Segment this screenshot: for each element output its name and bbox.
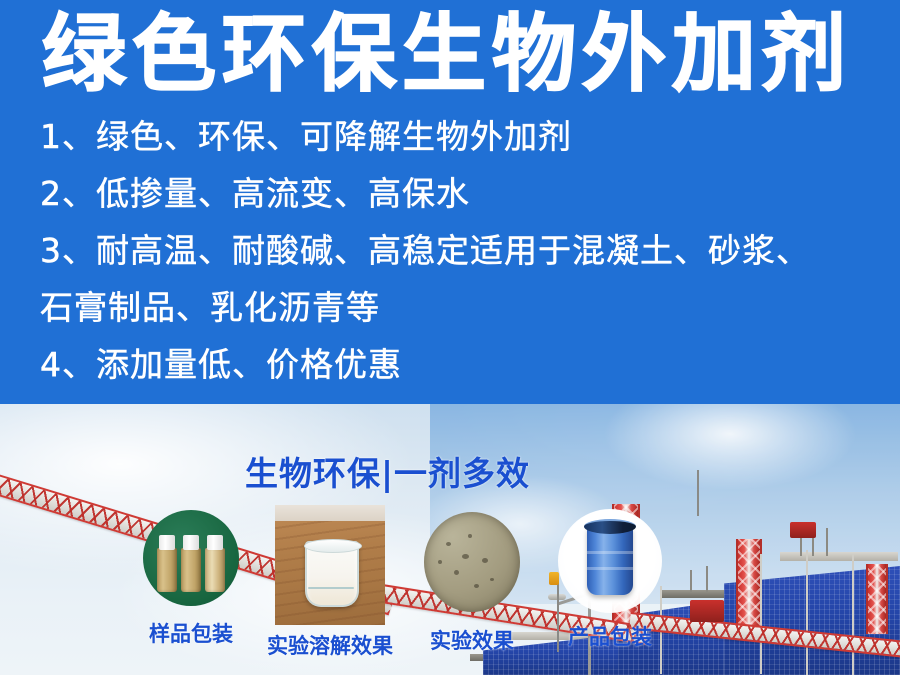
sample-bottle-1	[157, 548, 177, 592]
sample-bottle-3	[205, 548, 225, 592]
dissolution-beaker-photo	[275, 505, 385, 625]
bottle-cap-icon	[159, 535, 175, 550]
powder-speck	[438, 560, 442, 564]
feature-list: 1、绿色、环保、可降解生物外加剂 2、低掺量、高流变、高保水 3、耐高温、耐酸碱…	[40, 108, 880, 393]
product-poster: 绿色环保生物外加剂 1、绿色、环保、可降解生物外加剂 2、低掺量、高流变、高保水…	[0, 0, 900, 675]
thumbnail-caption: 产品包装	[568, 621, 652, 651]
feature-item-1: 1、绿色、环保、可降解生物外加剂	[40, 108, 880, 165]
beaker-icon	[305, 541, 359, 607]
thumbnail-dissolution-result: 实验溶解效果	[275, 505, 385, 625]
powder-speck	[474, 584, 479, 588]
thumbnail-product-packaging: 产品包装	[558, 509, 662, 613]
drum-ring	[587, 567, 633, 570]
feature-item-4: 4、添加量低、价格优惠	[40, 336, 880, 393]
beaker-liquid-line	[308, 587, 354, 589]
powder-speck	[482, 558, 488, 563]
band-headline: 生物环保|一剂多效	[245, 455, 530, 493]
thumbnail-caption: 样品包装	[149, 618, 233, 648]
powder-speck	[462, 554, 469, 559]
feature-item-2: 2、低掺量、高流变、高保水	[40, 165, 880, 222]
blue-header-panel: 绿色环保生物外加剂 1、绿色、环保、可降解生物外加剂 2、低掺量、高流变、高保水…	[0, 0, 900, 404]
thumbnail-caption: 实验效果	[430, 625, 514, 655]
drum-lid	[584, 519, 636, 534]
bottle-cap-icon	[207, 535, 223, 550]
powder-speck	[446, 542, 451, 546]
table-edge	[275, 505, 385, 521]
mortar-powder-photo	[424, 512, 520, 612]
thumbnail-sample-packaging: 样品包装	[143, 510, 239, 606]
beaker-rim	[304, 539, 362, 553]
feature-item-3: 3、耐高温、耐酸碱、高稳定适用于混凝土、砂浆、	[40, 222, 880, 279]
product-thumbnail-row: 样品包装 实验溶解效果	[0, 404, 900, 675]
sample-bottle-2	[181, 548, 201, 592]
blue-drum-icon	[587, 525, 633, 595]
powder-speck	[468, 534, 472, 538]
powder-speck	[490, 578, 494, 581]
bottle-cap-icon	[183, 535, 199, 550]
drum-ring	[587, 551, 633, 554]
powder-speck	[454, 570, 459, 575]
page-title: 绿色环保生物外加剂	[42, 8, 872, 100]
thumbnail-experiment-result: 实验效果	[424, 512, 520, 612]
feature-item-3-continued: 石膏制品、乳化沥青等	[40, 279, 880, 336]
blue-drum-photo	[558, 509, 662, 613]
sample-bottles-photo	[143, 510, 239, 606]
thumbnail-caption: 实验溶解效果	[267, 630, 393, 660]
